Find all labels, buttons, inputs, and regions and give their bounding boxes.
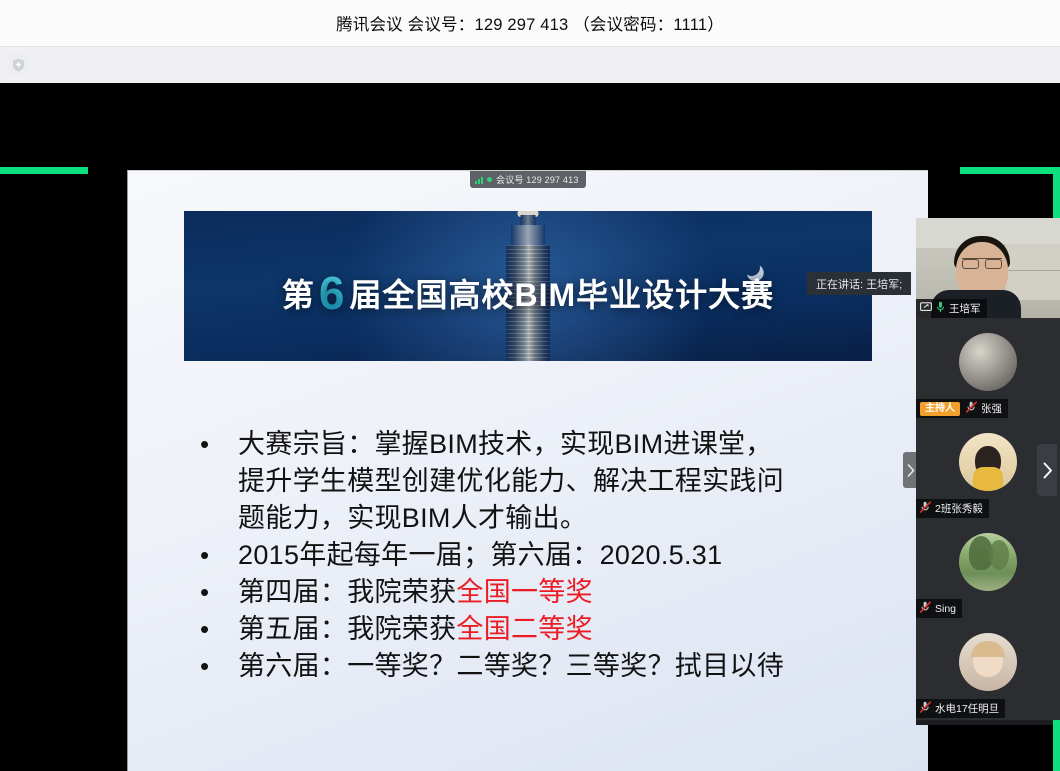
banner-title-number: 6 xyxy=(315,267,350,319)
screen-share-icon xyxy=(920,300,932,318)
bullet-marker: • xyxy=(188,574,238,610)
avatar xyxy=(959,633,1017,691)
bullet-marker: • xyxy=(188,648,238,684)
status-dot-icon xyxy=(487,177,492,182)
window-title: 腾讯会议 会议号：129 297 413 （会议密码：1111） xyxy=(336,11,724,35)
browser-toolbar xyxy=(0,47,1060,84)
meeting-id-chip: 会议号 129 297 413 xyxy=(470,171,586,188)
bullet-highlight: 全国一等奖 xyxy=(456,577,593,607)
banner-title-suffix: 届全国高校BIM毕业设计大赛 xyxy=(349,277,774,313)
bullet-highlight: 全国二等奖 xyxy=(456,614,593,644)
participant-tile-zhang-qiang[interactable]: 主持人 张强 xyxy=(916,318,1060,418)
bullet-marker: • xyxy=(188,611,238,647)
participant-name: 王培军 xyxy=(949,301,981,316)
bullet-marker: • xyxy=(188,537,238,573)
meeting-screen-share-window: 腾讯会议 会议号：129 297 413 （会议密码：1111） 会议号 129… xyxy=(0,0,1060,771)
shield-plus-icon[interactable] xyxy=(7,53,30,76)
bullet-line: 题能力，实现BIM人才输出。 xyxy=(238,500,784,537)
bullet-line: 第五届：我院荣获 xyxy=(238,614,456,644)
shared-slide: 会议号 129 297 413 第6届全国高校BIM毕业设计大赛 • 大赛宗旨：… xyxy=(127,170,928,771)
speaking-tooltip: 正在讲话: 王培军; xyxy=(807,272,911,295)
participant-name: 水电17任明旦 xyxy=(935,701,999,716)
participant-tile-sing[interactable]: Sing xyxy=(916,518,1060,618)
participant-tile-ren-mingdan[interactable]: 水电17任明旦 xyxy=(916,618,1060,718)
list-item: • 第五届：我院荣获全国二等奖 xyxy=(188,611,904,648)
bullet-line: 2015年起每年一届；第六届：2020.5.31 xyxy=(238,540,722,570)
participant-name-bar: 王培军 xyxy=(916,299,987,318)
bullet-text: 第六届：一等奖？二等奖？三等奖？拭目以待 xyxy=(238,648,784,685)
list-item: • 第四届：我院荣获全国一等奖 xyxy=(188,574,904,611)
microphone-muted-icon xyxy=(966,400,977,418)
microphone-muted-icon xyxy=(920,500,931,518)
participant-name-bar: 2班张秀毅 xyxy=(916,499,989,518)
microphone-muted-icon xyxy=(920,700,931,718)
list-item: • 第六届：一等奖？二等奖？三等奖？拭目以待 xyxy=(188,648,904,685)
participant-name-bar: Sing xyxy=(916,599,962,618)
participant-name-bar: 水电17任明旦 xyxy=(916,699,1005,718)
slide-banner: 第6届全国高校BIM毕业设计大赛 xyxy=(184,211,872,361)
banner-title-prefix: 第 xyxy=(282,277,315,313)
bullet-text: 第四届：我院荣获全国一等奖 xyxy=(238,574,593,611)
participant-name: 张强 xyxy=(981,401,1002,416)
bullet-line: 第四届：我院荣获 xyxy=(238,577,456,607)
bullet-line: 提升学生模型创建优化能力、解决工程实践问 xyxy=(238,463,784,500)
participant-tile-wang-peijun[interactable]: 王培军 xyxy=(916,218,1060,318)
participant-name-bar: 主持人 张强 xyxy=(916,399,1008,418)
filmstrip-bottom-edge xyxy=(916,720,1053,725)
banner-title: 第6届全国高校BIM毕业设计大赛 xyxy=(184,266,872,320)
avatar xyxy=(959,333,1017,391)
participant-name: Sing xyxy=(935,603,956,615)
avatar xyxy=(959,433,1017,491)
list-item: • 2015年起每年一届；第六届：2020.5.31 xyxy=(188,537,904,574)
speaking-tooltip-text: 正在讲话: 王培军; xyxy=(816,276,902,292)
bullet-text: 大赛宗旨：掌握BIM技术，实现BIM进课堂， 提升学生模型创建优化能力、解决工程… xyxy=(238,426,784,537)
avatar xyxy=(959,533,1017,591)
bullet-text: 第五届：我院荣获全国二等奖 xyxy=(238,611,593,648)
signal-bars-icon xyxy=(475,176,483,184)
microphone-icon xyxy=(936,300,945,318)
microphone-muted-icon xyxy=(920,600,931,618)
host-badge: 主持人 xyxy=(920,402,960,416)
bullet-line: 第六届：一等奖？二等奖？三等奖？拭目以待 xyxy=(238,651,784,681)
slide-bullet-list: • 大赛宗旨：掌握BIM技术，实现BIM进课堂， 提升学生模型创建优化能力、解决… xyxy=(188,426,904,685)
list-item: • 大赛宗旨：掌握BIM技术，实现BIM进课堂， 提升学生模型创建优化能力、解决… xyxy=(188,426,904,537)
participant-name: 2班张秀毅 xyxy=(935,501,983,516)
bullet-marker: • xyxy=(188,426,238,462)
window-title-bar: 腾讯会议 会议号：129 297 413 （会议密码：1111） xyxy=(0,0,1060,47)
chevron-right-icon[interactable] xyxy=(1037,444,1057,496)
meeting-id-label: 会议号 129 297 413 xyxy=(496,173,579,186)
bullet-line: 大赛宗旨：掌握BIM技术，实现BIM进课堂， xyxy=(238,426,784,463)
bullet-text: 2015年起每年一届；第六届：2020.5.31 xyxy=(238,537,722,574)
